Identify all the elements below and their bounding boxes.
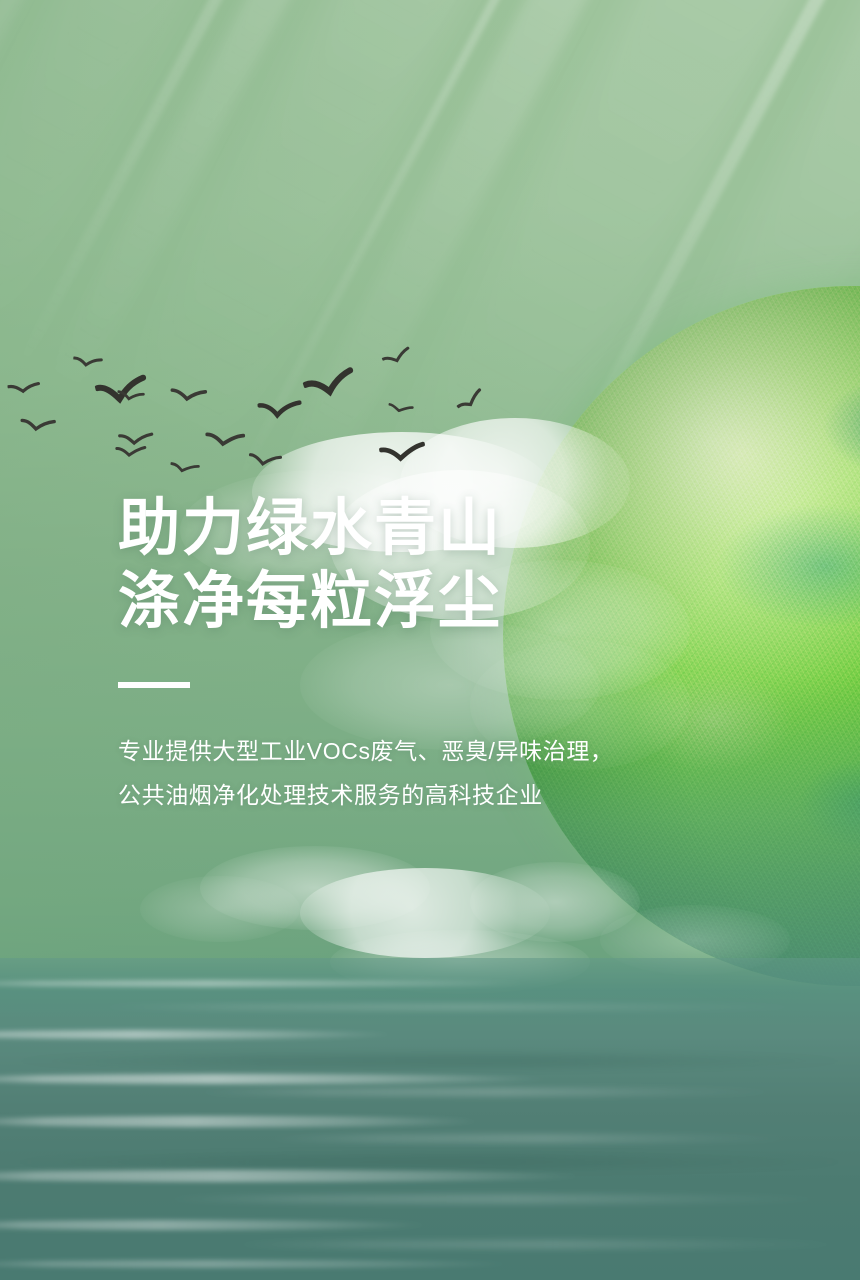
- headline-block: 助力绿水青山 涤净每粒浮尘 专业提供大型工业VOCs废气、恶臭/异味治理， 公共…: [118, 492, 678, 815]
- subtitle-line-2: 公共油烟净化处理技术服务的高科技企业: [118, 776, 678, 816]
- subtitle-line-1: 专业提供大型工业VOCs废气、恶臭/异味治理，: [118, 732, 678, 772]
- bird-icon: [247, 452, 282, 472]
- bird-icon: [73, 355, 104, 372]
- bird-icon: [20, 417, 57, 435]
- headline-line-2: 涤净每粒浮尘: [118, 565, 678, 638]
- bird-icon: [115, 444, 148, 461]
- water-surface: [0, 958, 860, 1280]
- headline-line-1: 助力绿水青山: [118, 492, 678, 565]
- bird-icon: [116, 389, 145, 406]
- flying-birds-flock: [0, 0, 460, 140]
- poster-canvas: 助力绿水青山 涤净每粒浮尘 专业提供大型工业VOCs废气、恶臭/异味治理， 公共…: [0, 0, 860, 1280]
- bird-icon: [205, 431, 246, 451]
- divider-rule: [118, 682, 190, 688]
- bird-icon: [169, 460, 200, 478]
- bird-icon: [170, 387, 209, 407]
- bird-icon: [257, 398, 302, 423]
